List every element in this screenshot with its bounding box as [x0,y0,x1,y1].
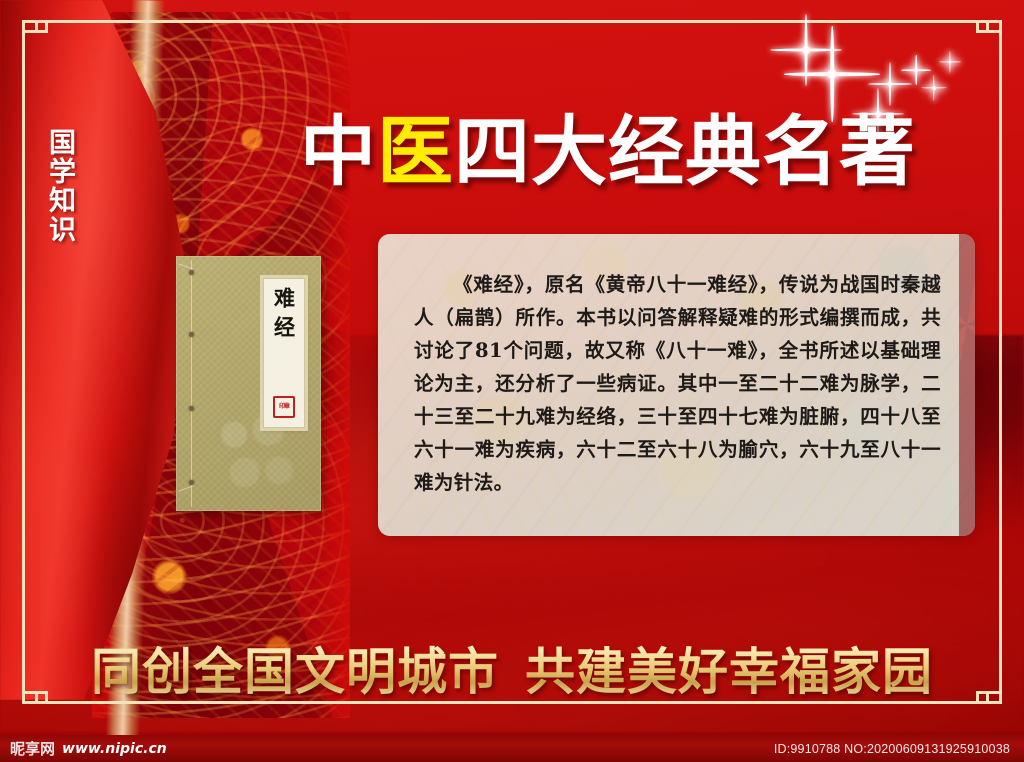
site-logo: 昵享网 [10,738,55,759]
corner-ornament-top-right [968,20,1002,50]
book-title-text: 难经 [274,287,295,375]
book-title-slip: 难经 印章 [263,278,305,428]
title-segment-1: 中 [300,107,377,196]
title-segment-highlight: 医 [377,107,454,196]
footer-brand[interactable]: 昵享网 www.nipic.cn [0,738,167,759]
red-seal-icon: 印章 [273,396,295,418]
poster-canvas: 国学知识 中医四大经典名著 难经 印章 《难经》，原名《黄帝八十一难经》，传说为… [0,0,1024,762]
sidebar-vertical-label: 国学知识 [38,96,78,276]
bottom-slogan: 同创全国文明城市共建美好幸福家园 [0,636,1024,700]
footer-asset-id: ID:9910788 NO:20200609131925910038 [774,742,1024,756]
site-url[interactable]: www.nipic.cn [62,741,167,757]
corner-ornament-top-left [22,20,56,50]
book-binding-hole [189,270,194,275]
slogan-left: 同创全国文明城市 [91,632,499,704]
footer-bar: 昵享网 www.nipic.cn ID:9910788 NO:202006091… [0,735,1024,762]
page-title: 中医四大经典名著 [300,104,920,200]
title-segment-2: 四大经典名著 [454,107,916,196]
book-binding-hole [189,406,194,411]
body-paragraph: 《难经》，原名《黄帝八十一难经》，传说为战国时秦越人（扁鹊）所作。本书以问答解释… [414,268,941,499]
book-binding-line [191,260,192,507]
book-binding-hole [189,332,194,337]
slogan-right: 共建美好幸福家园 [525,632,933,704]
panel-right-brocade-edge [959,234,975,536]
content-panel: 《难经》，原名《黄帝八十一难经》，传说为战国时秦越人（扁鹊）所作。本书以问答解释… [378,234,975,536]
ancient-book-cover: 难经 印章 [176,256,321,511]
